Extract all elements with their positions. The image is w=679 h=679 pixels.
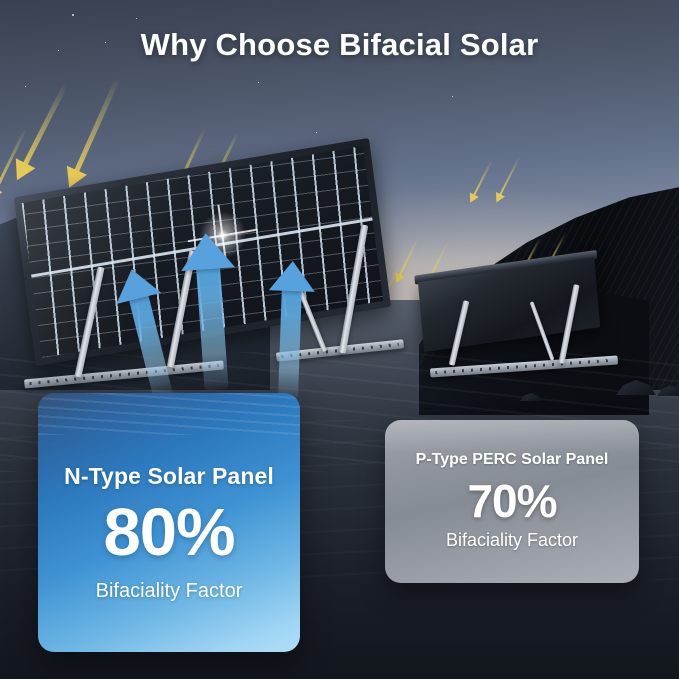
star-speck [72, 14, 74, 16]
star-speck [258, 82, 259, 83]
reflected-light-arrow [288, 282, 292, 400]
ntype-card-title: N-Type Solar Panel [38, 463, 300, 490]
star-speck [316, 132, 317, 133]
arrow-shaft [278, 282, 302, 401]
arrow-head [269, 260, 316, 292]
ntype-stat-card[interactable]: N-Type Solar Panel 80% Bifaciality Facto… [38, 393, 300, 652]
page-title: Why Choose Bifacial Solar [0, 27, 679, 63]
star-speck [25, 86, 26, 87]
ntype-card-content: N-Type Solar Panel 80% Bifaciality Facto… [38, 463, 300, 603]
ptype-card-title: P-Type PERC Solar Panel [385, 451, 639, 469]
arrow-head [179, 231, 235, 271]
ptype-percent-value: 70% [385, 478, 639, 524]
ntype-card-subtitle: Bifaciality Factor [38, 580, 300, 603]
ntype-percent-value: 80% [38, 500, 300, 566]
ptype-card-subtitle: Bifaciality Factor [385, 530, 639, 551]
reflected-light-arrow [207, 258, 216, 390]
ptype-card-content: P-Type PERC Solar Panel 70% Bifaciality … [385, 451, 639, 551]
ptype-stat-card[interactable]: P-Type PERC Solar Panel 70% Bifaciality … [385, 420, 639, 583]
marketing-infographic: Why Choose Bifacial Solar N-Type Solar P… [0, 0, 679, 679]
star-speck [136, 18, 137, 19]
star-speck [452, 96, 453, 97]
